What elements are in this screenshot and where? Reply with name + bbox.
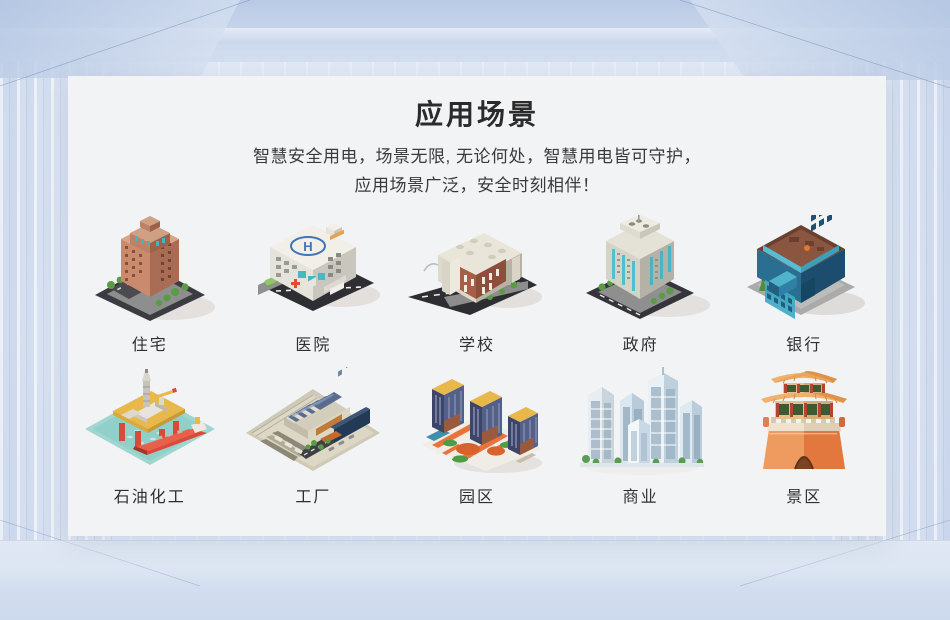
scene-item-factory[interactable]: 工厂: [232, 367, 396, 517]
scene-label: 医院: [295, 331, 331, 355]
subtitle-line-1: 智慧安全用电，场景无限, 无论何处，智慧用电皆可守护，: [68, 142, 886, 172]
scene-label: 学校: [459, 331, 495, 355]
scene-item-petrochemical[interactable]: 石油化工: [68, 367, 232, 517]
scene-item-industrial-park[interactable]: 园区: [395, 367, 559, 517]
government-tower-icon: [566, 215, 716, 327]
background-ceiling-left-perspective-line: [0, 0, 250, 86]
background-floor-gloss: [0, 540, 950, 620]
scene-label: 住宅: [132, 331, 168, 355]
scenic-gate-tower-icon: [729, 367, 879, 479]
scene-item-government[interactable]: 政府: [559, 215, 723, 365]
content-card: 应用场景 智慧安全用电，场景无限, 无论何处，智慧用电皆可守护， 应用场景广泛，…: [68, 76, 886, 536]
scene-item-commercial[interactable]: 商业: [559, 367, 723, 517]
hospital-building-icon: H: [238, 215, 388, 327]
scene-label: 园区: [459, 483, 495, 507]
factory-warehouse-icon: [238, 367, 388, 479]
scene-item-residential[interactable]: 住宅: [68, 215, 232, 365]
scene-page: 应用场景 智慧安全用电，场景无限, 无论何处，智慧用电皆可守护， 应用场景广泛，…: [0, 0, 950, 620]
subtitle-line-2: 应用场景广泛，安全时刻相伴！: [68, 171, 886, 201]
oil-rig-icon: [75, 367, 225, 479]
scene-label: 政府: [623, 331, 659, 355]
scene-label: 工厂: [295, 483, 331, 507]
industrial-park-icon: [402, 367, 552, 479]
commercial-skyscrapers-icon: [566, 367, 716, 479]
residential-tower-icon: [75, 215, 225, 327]
scene-item-school[interactable]: 学校: [395, 215, 559, 365]
scene-item-bank[interactable]: 银行: [722, 215, 886, 365]
school-building-icon: [402, 215, 552, 327]
scene-item-hospital[interactable]: H 医院: [232, 215, 396, 365]
page-title: 应用场景: [68, 98, 886, 132]
svg-text:H: H: [304, 239, 313, 254]
background-ceiling-right-perspective-line: [680, 0, 950, 88]
scene-label: 石油化工: [114, 483, 186, 507]
page-subtitle: 智慧安全用电，场景无限, 无论何处，智慧用电皆可守护， 应用场景广泛，安全时刻相…: [68, 142, 886, 202]
scene-label: 商业: [623, 483, 659, 507]
scene-item-scenic-area[interactable]: 景区: [722, 367, 886, 517]
scene-label: 景区: [786, 483, 822, 507]
scene-label: 银行: [786, 331, 822, 355]
bank-building-icon: [729, 215, 879, 327]
scene-grid: 住宅: [68, 215, 886, 517]
